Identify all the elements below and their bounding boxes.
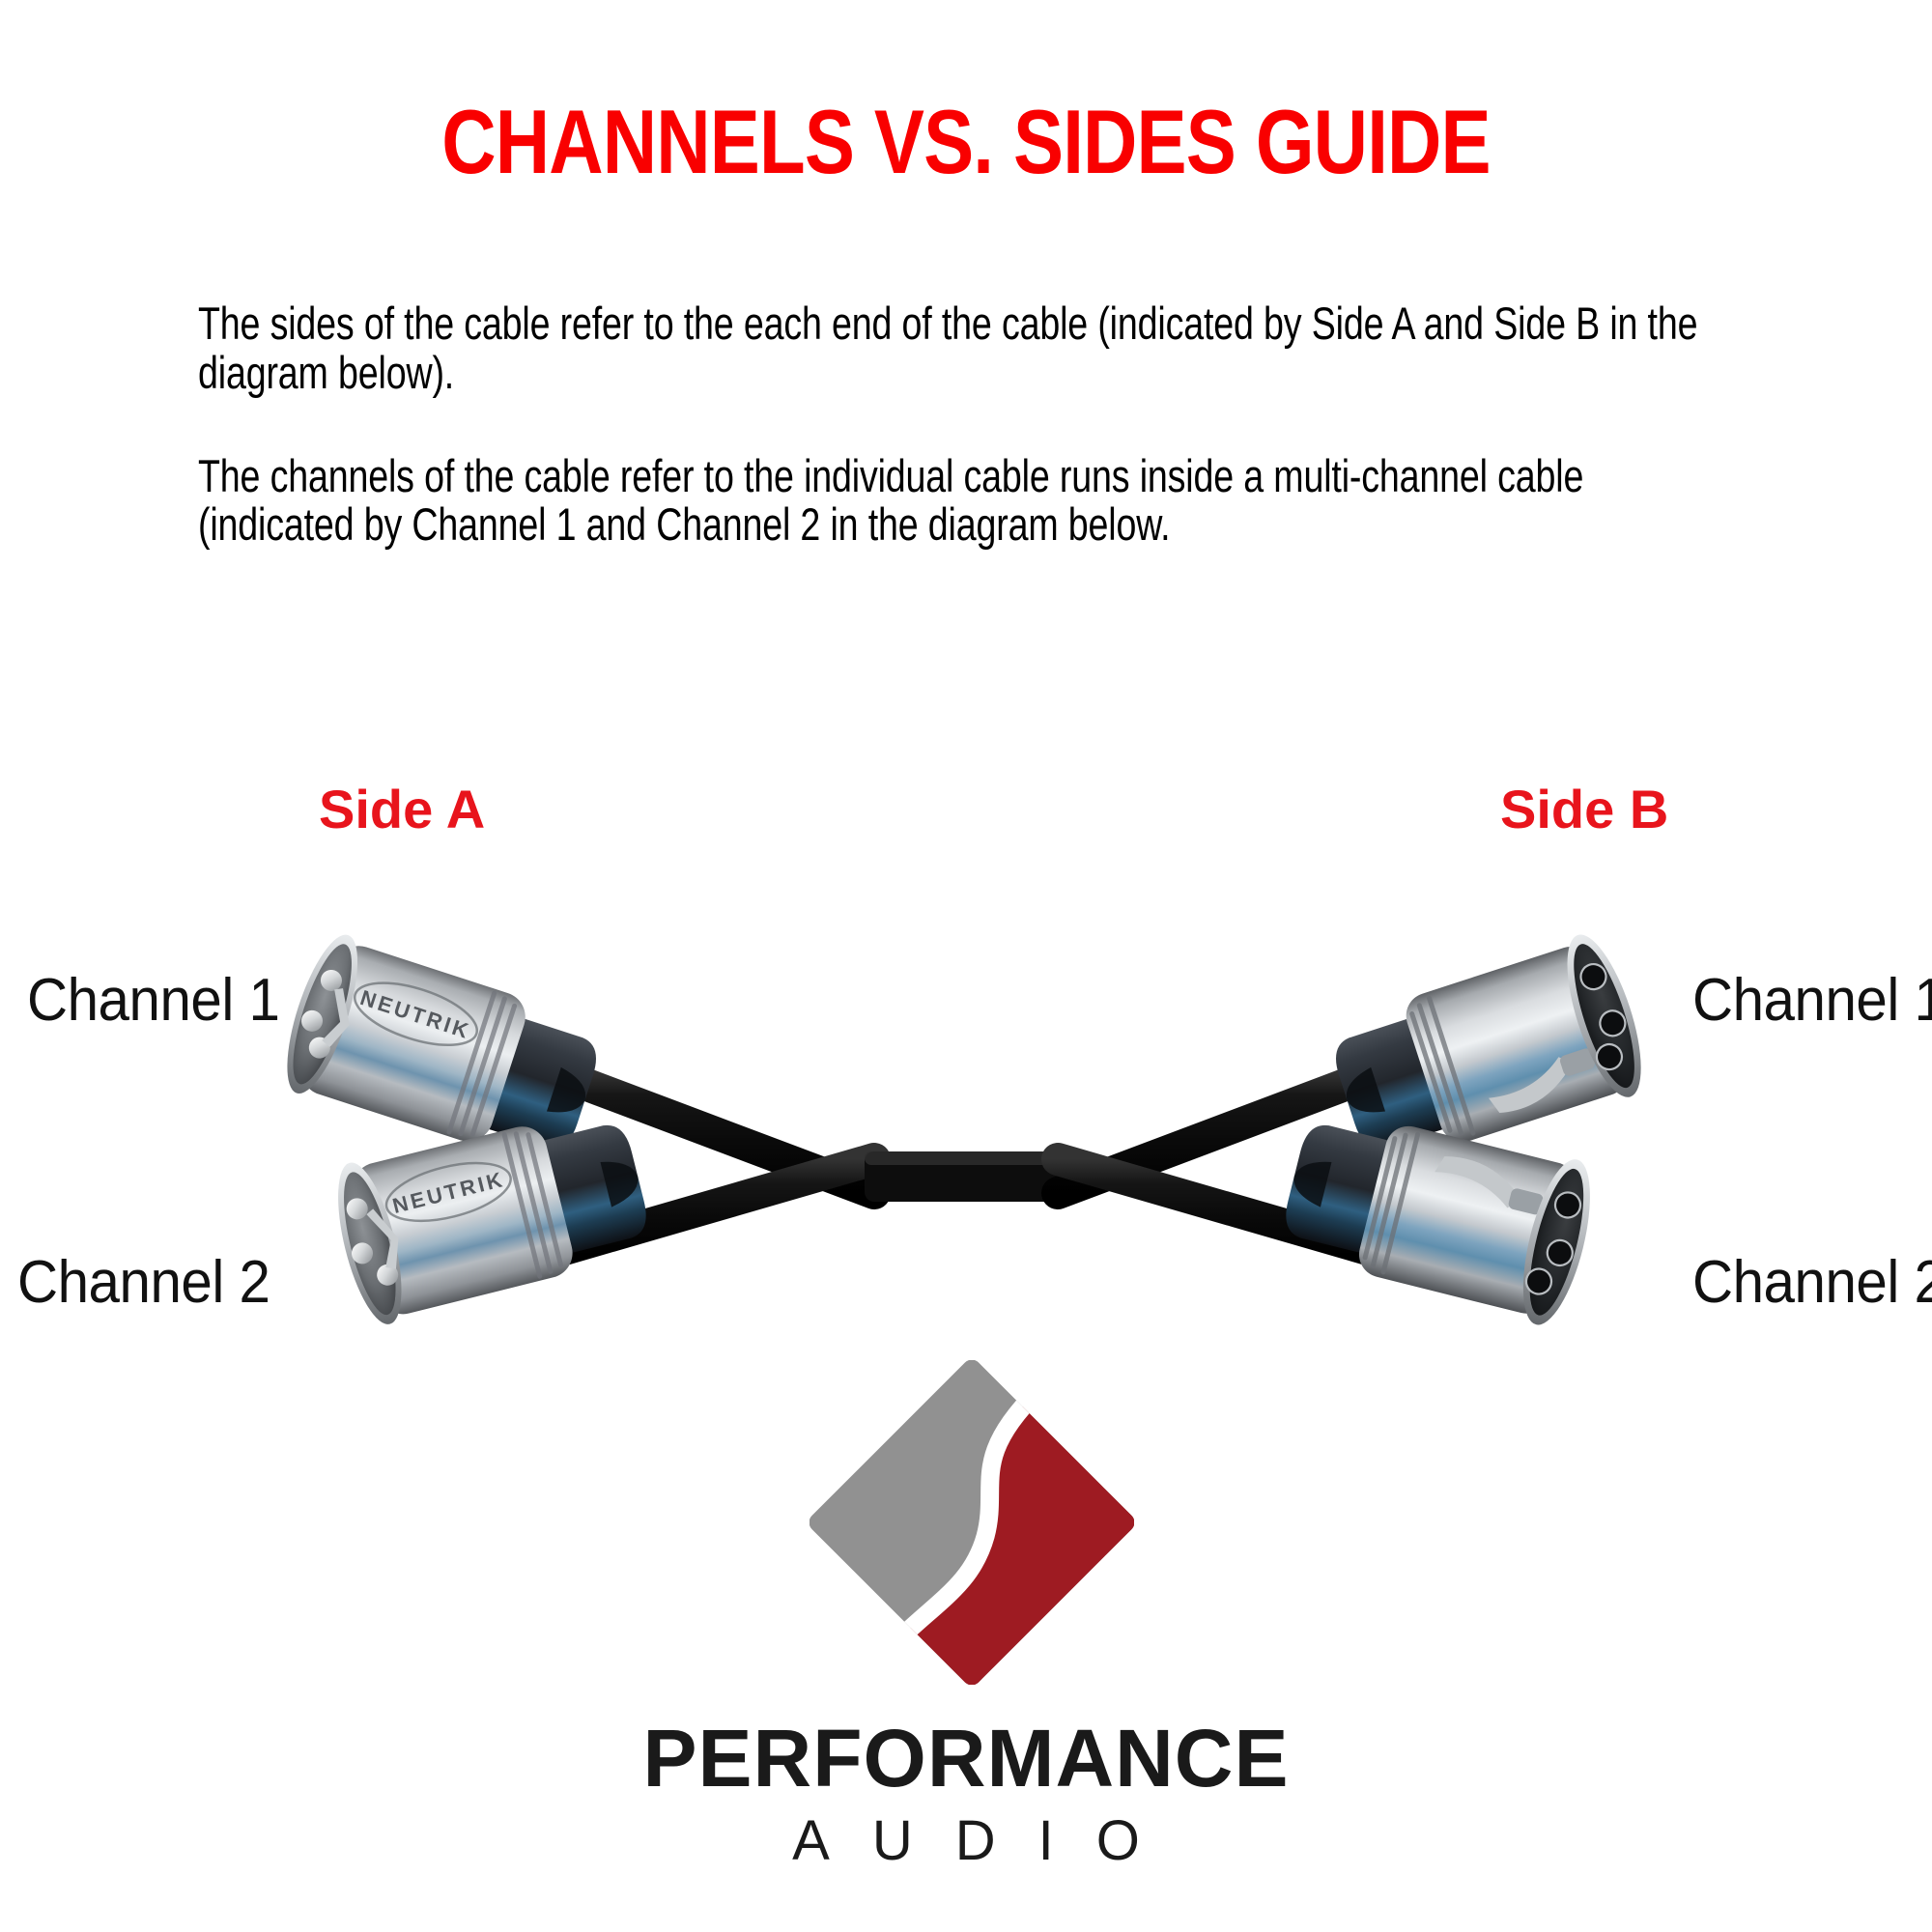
xlr-latch	[1483, 1047, 1601, 1118]
xlr-latch	[1431, 1152, 1548, 1216]
left-channel-1-label: Channel 1	[27, 966, 279, 1035]
connector-side-a-channel-2: NEUTRIK	[326, 1096, 658, 1330]
paragraph-sides: The sides of the cable refer to the each…	[198, 299, 1705, 398]
side-b-label: Side B	[1500, 778, 1668, 840]
connector-brand-text: NEUTRIK	[390, 1167, 507, 1218]
brand-wordmark: PERFORMANCE	[0, 1712, 1932, 1805]
connector-brand-text: NEUTRIK	[357, 985, 474, 1043]
side-a-label: Side A	[319, 778, 485, 840]
connector-side-b-channel-2	[1273, 1094, 1603, 1331]
page-title: CHANNELS VS. SIDES GUIDE	[164, 97, 1768, 187]
right-channel-2-label: Channel 2	[1692, 1248, 1932, 1317]
connector-side-a-channel-1: NEUTRIK	[272, 927, 611, 1179]
xlr-male-pins	[339, 1190, 410, 1292]
xlr-male-pins	[292, 965, 364, 1065]
brand-submark: AUDIO	[0, 1808, 1932, 1873]
performance-audio-logo-icon	[810, 1360, 1134, 1685]
right-channel-1-label: Channel 1	[1692, 966, 1932, 1035]
intro-copy: The sides of the cable refer to the each…	[198, 299, 1705, 550]
paragraph-channels: The channels of the cable refer to the i…	[198, 452, 1705, 551]
cable-runs	[541, 1067, 1391, 1256]
left-channel-2-label: Channel 2	[17, 1248, 270, 1317]
xlr-female-sockets	[1569, 959, 1638, 1072]
xlr-female-sockets	[1523, 1187, 1586, 1299]
connector-side-b-channel-1	[1321, 926, 1656, 1180]
